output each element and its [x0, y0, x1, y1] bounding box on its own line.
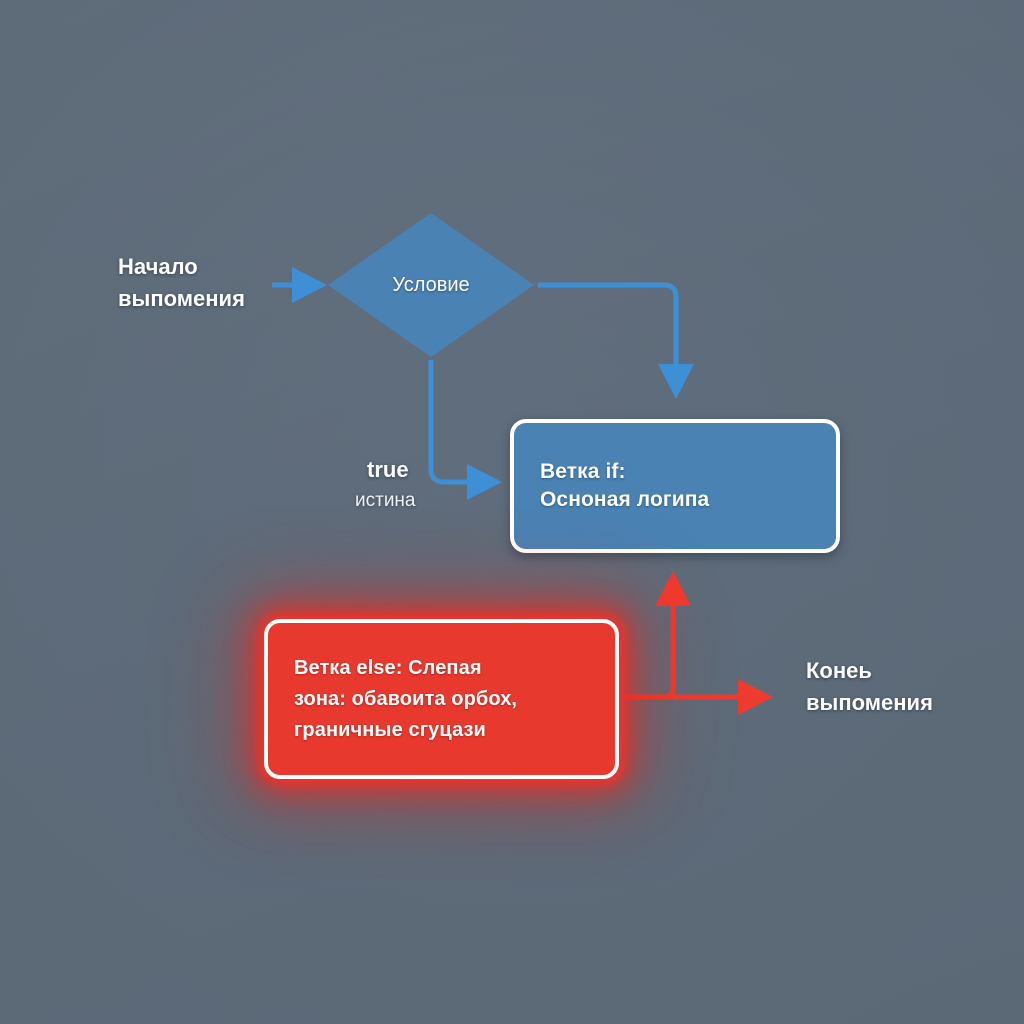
- label-start: Начало выпомения: [118, 251, 318, 315]
- edge-decision-to-if-left: [431, 360, 495, 482]
- edge-else-to-if-bottom: [624, 578, 673, 697]
- node-if-branch-label: Ветка if: Осноная логипа: [514, 458, 709, 515]
- node-decision-label: Условие: [328, 213, 534, 357]
- node-decision[interactable]: Условие: [328, 213, 534, 357]
- edge-label-true: true: [367, 457, 409, 483]
- node-else-branch-label: Ветка else: Слепая зона: обавоита орбох,…: [268, 653, 533, 746]
- diagram-canvas: Начало выпомения Условие true истина Вет…: [0, 0, 1024, 1024]
- label-end: Конеь выпомения: [806, 655, 1016, 719]
- node-if-branch[interactable]: Ветка if: Осноная логипа: [510, 419, 840, 553]
- edge-decision-to-if-top: [538, 285, 676, 392]
- edge-label-istina: истина: [355, 490, 416, 512]
- node-else-branch[interactable]: Ветка else: Слепая зона: обавоита орбох,…: [264, 619, 619, 779]
